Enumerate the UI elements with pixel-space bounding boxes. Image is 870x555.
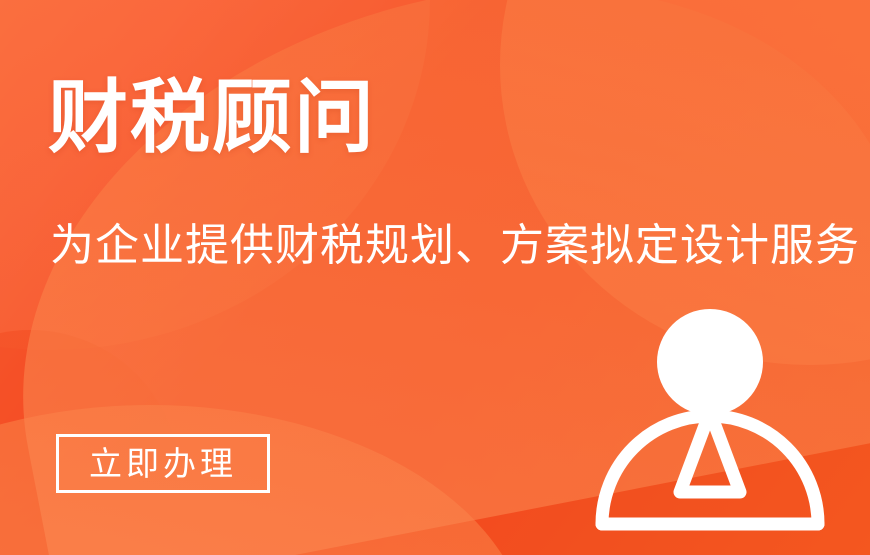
promo-banner: 财税顾问 为企业提供财税规划、方案拟定设计服务 立即办理 xyxy=(0,0,870,555)
banner-subtitle: 为企业提供财税规划、方案拟定设计服务 xyxy=(50,222,860,270)
person-head-icon xyxy=(657,309,763,415)
banner-title: 财税顾问 xyxy=(48,78,376,158)
apply-now-button[interactable]: 立即办理 xyxy=(56,434,270,493)
person-body-icon xyxy=(602,416,818,524)
banner-content: 财税顾问 为企业提供财税规划、方案拟定设计服务 立即办理 xyxy=(0,0,870,555)
person-advisor-icon xyxy=(588,296,838,541)
